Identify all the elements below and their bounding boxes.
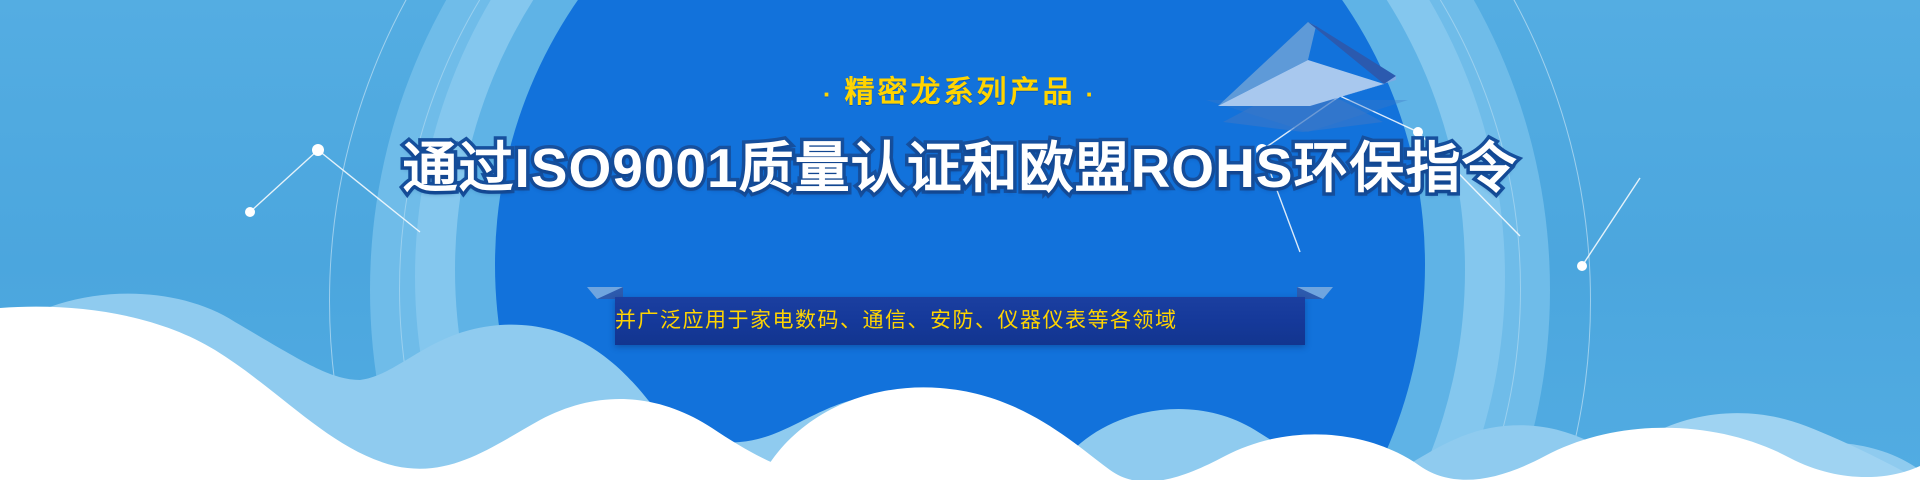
eyebrow-text: 精密龙系列产品 xyxy=(845,76,1076,109)
tagline-ribbon: 并广泛应用于家电数码、通信、安防、仪器仪表等各领域 xyxy=(615,297,1305,345)
promo-banner: ·精密龙系列产品· 通过ISO9001质量认证和欧盟ROHS环保指令 并广泛应用… xyxy=(0,0,1920,480)
banner-headline: 通过ISO9001质量认证和欧盟ROHS环保指令 xyxy=(0,108,1920,200)
ribbon-body: 并广泛应用于家电数码、通信、安防、仪器仪表等各领域 xyxy=(615,297,1305,345)
eyebrow-dot-right: · xyxy=(1076,79,1108,109)
ribbon-tagline-text: 并广泛应用于家电数码、通信、安防、仪器仪表等各领域 xyxy=(615,297,1305,345)
banner-content: ·精密龙系列产品· 通过ISO9001质量认证和欧盟ROHS环保指令 xyxy=(0,0,1920,200)
eyebrow-dot-left: · xyxy=(813,79,845,109)
banner-eyebrow: ·精密龙系列产品· xyxy=(0,0,1920,108)
